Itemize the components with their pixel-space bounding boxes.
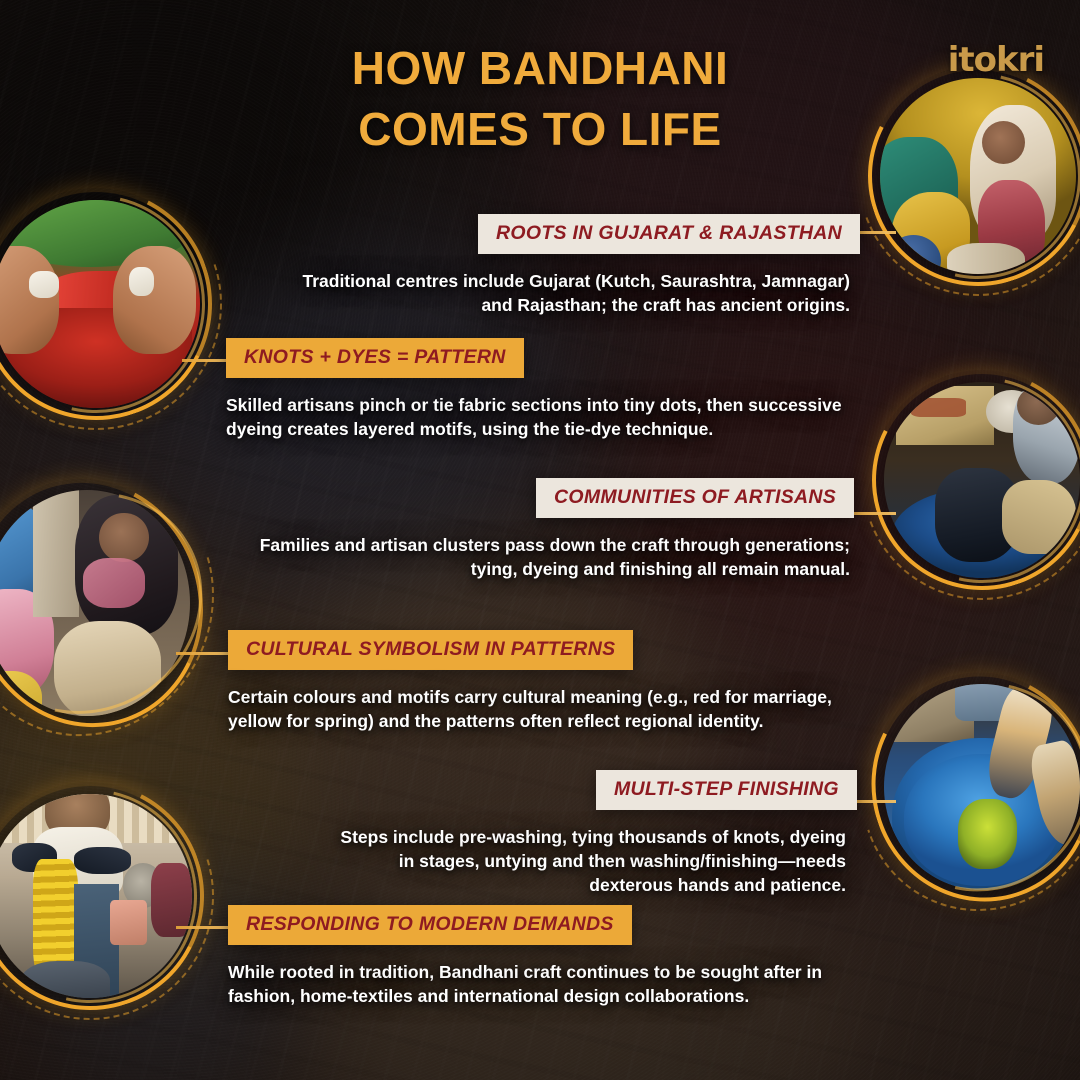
section-cultural-heading: CULTURAL SYMBOLISM IN PATTERNS xyxy=(228,630,633,670)
connector-modern xyxy=(176,926,234,929)
section-modern-body: While rooted in tradition, Bandhani craf… xyxy=(228,960,848,1008)
section-roots: ROOTS IN GUJARAT & RAJASTHAN Traditional… xyxy=(280,214,850,317)
section-finishing-heading: MULTI-STEP FINISHING xyxy=(596,770,857,810)
section-communities-heading: COMMUNITIES OF ARTISANS xyxy=(536,478,854,518)
section-knots-body: Skilled artisans pinch or tie fabric sec… xyxy=(226,393,846,441)
photo-knot-hands xyxy=(0,200,200,408)
page-title-line2: COMES TO LIFE xyxy=(0,99,1080,160)
page-title-line1: HOW BANDHANI xyxy=(0,38,1080,99)
brand-logo[interactable]: itokri xyxy=(948,40,1044,80)
section-roots-heading: ROOTS IN GUJARAT & RAJASTHAN xyxy=(478,214,860,254)
page-title: HOW BANDHANI COMES TO LIFE xyxy=(0,38,1080,160)
section-modern-heading: RESPONDING TO MODERN DEMANDS xyxy=(228,905,632,945)
infographic-canvas: HOW BANDHANI COMES TO LIFE itokri xyxy=(0,0,1080,1080)
section-roots-body: Traditional centres include Gujarat (Kut… xyxy=(280,269,850,317)
connector-knots xyxy=(182,359,232,362)
section-knots: KNOTS + DYES = PATTERN Skilled artisans … xyxy=(226,338,846,441)
photo-indigo-dip xyxy=(884,684,1080,890)
section-finishing-body: Steps include pre-washing, tying thousan… xyxy=(326,825,846,897)
section-cultural: CULTURAL SYMBOLISM IN PATTERNS Certain c… xyxy=(228,630,848,733)
photo-yellow-lift xyxy=(0,794,192,998)
photo-dye-tub xyxy=(884,382,1080,578)
section-knots-heading: KNOTS + DYES = PATTERN xyxy=(226,338,524,378)
section-cultural-body: Certain colours and motifs carry cultura… xyxy=(228,685,848,733)
section-finishing: MULTI-STEP FINISHING Steps include pre-w… xyxy=(326,770,846,897)
connector-cultural xyxy=(176,652,234,655)
photo-women-knots xyxy=(0,490,190,716)
section-modern: RESPONDING TO MODERN DEMANDS While roote… xyxy=(228,905,848,1008)
section-communities: COMMUNITIES OF ARTISANS Families and art… xyxy=(240,478,850,581)
section-communities-body: Families and artisan clusters pass down … xyxy=(240,533,850,581)
